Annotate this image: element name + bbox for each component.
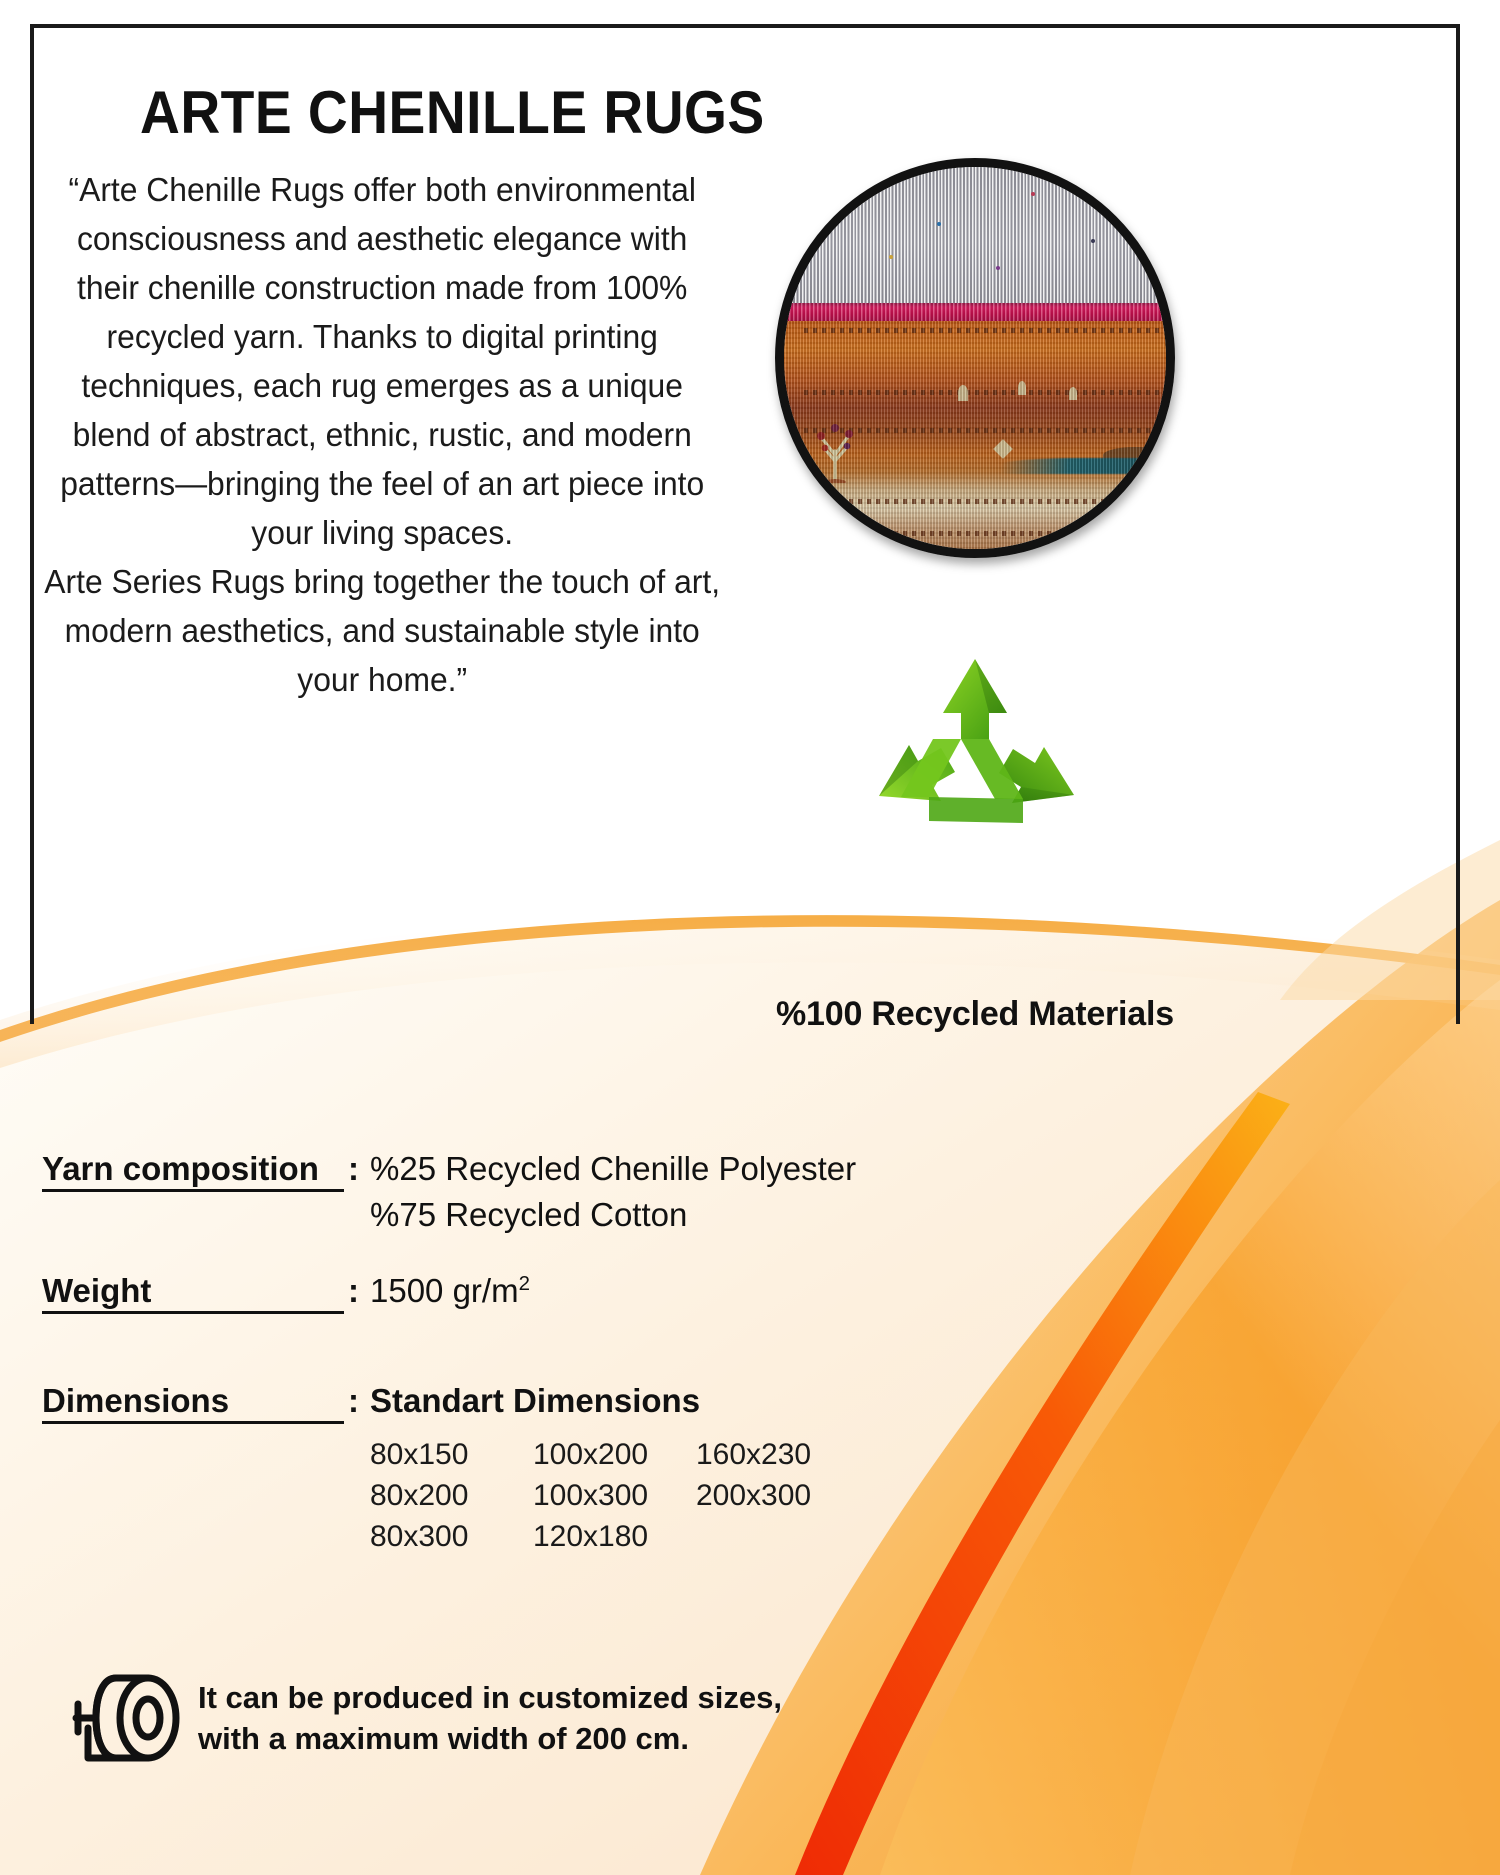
size-cell: 80x150	[370, 1434, 533, 1475]
rug-face-pattern	[775, 321, 1175, 549]
spec-colon-weight: :	[348, 1272, 359, 1310]
size-cell: 80x200	[370, 1475, 533, 1516]
spec-colon-dimensions: :	[348, 1382, 359, 1420]
rug-teal-accent	[1001, 458, 1175, 474]
spec-colon-yarn: :	[348, 1150, 359, 1188]
size-grid-row: 80x200 100x300 200x300	[370, 1475, 859, 1516]
spec-value-weight: 1500 gr/m2	[370, 1272, 530, 1310]
poster-canvas: ARTE CHENILLE RUGS “Arte Chenille Rugs o…	[0, 0, 1500, 1875]
spec-value-yarn-line2: %75 Recycled Cotton	[370, 1196, 687, 1234]
size-cell	[696, 1516, 859, 1557]
spec-value-yarn-line1: %25 Recycled Chenille Polyester	[370, 1150, 856, 1188]
size-cell: 200x300	[696, 1475, 859, 1516]
rug-dark-motif	[1103, 447, 1171, 465]
description-block: “Arte Chenille Rugs offer both environme…	[44, 166, 720, 705]
size-cell: 120x180	[533, 1516, 696, 1557]
custom-size-note-line2: with a maximum width of 200 cm.	[198, 1718, 782, 1759]
spec-value-weight-text: 1500 gr/m	[370, 1272, 519, 1309]
spec-row-weight: Weight : 1500 gr/m2	[0, 1272, 1000, 1364]
page-frame-border-right	[1456, 24, 1460, 1024]
size-grid-row: 80x150 100x200 160x230	[370, 1434, 859, 1475]
spec-row-dimensions: Dimensions : Standart Dimensions 80x150 …	[0, 1382, 1000, 1582]
description-paragraph-2: Arte Series Rugs bring together the touc…	[44, 558, 720, 705]
spec-label-yarn-composition: Yarn composition	[42, 1150, 344, 1192]
dimensions-size-grid: 80x150 100x200 160x230 80x200 100x300 20…	[370, 1434, 859, 1557]
size-grid-row: 80x300 120x180	[370, 1516, 859, 1557]
size-cell: 100x300	[533, 1475, 696, 1516]
spec-value-weight-superscript: 2	[519, 1272, 530, 1295]
spec-value-dimensions: Standart Dimensions	[370, 1382, 700, 1420]
description-paragraph-1: “Arte Chenille Rugs offer both environme…	[44, 166, 720, 558]
custom-size-note-text: It can be produced in customized sizes, …	[198, 1677, 782, 1759]
size-cell: 100x200	[533, 1434, 696, 1475]
rug-tree-motif	[808, 421, 866, 483]
spec-label-weight: Weight	[42, 1272, 344, 1314]
rug-binding-edge	[775, 303, 1175, 323]
custom-size-note: It can be produced in customized sizes, …	[70, 1672, 970, 1764]
recycled-materials-caption: %100 Recycled Materials	[755, 995, 1195, 1034]
rug-photo	[775, 158, 1183, 620]
page-title: ARTE CHENILLE RUGS	[140, 78, 765, 147]
size-cell: 80x300	[370, 1516, 533, 1557]
spec-row-yarn-composition: Yarn composition : %25 Recycled Chenille…	[0, 1150, 1000, 1254]
rug-photo-circle	[775, 158, 1175, 558]
custom-size-note-line1: It can be produced in customized sizes,	[198, 1677, 782, 1718]
size-cell: 160x230	[696, 1434, 859, 1475]
specifications-block: Yarn composition : %25 Recycled Chenille…	[0, 1150, 1000, 1600]
tape-measure-icon	[70, 1672, 188, 1764]
recycle-icon	[873, 655, 1078, 830]
rug-backing-texture	[775, 167, 1175, 305]
spec-label-dimensions: Dimensions	[42, 1382, 344, 1424]
